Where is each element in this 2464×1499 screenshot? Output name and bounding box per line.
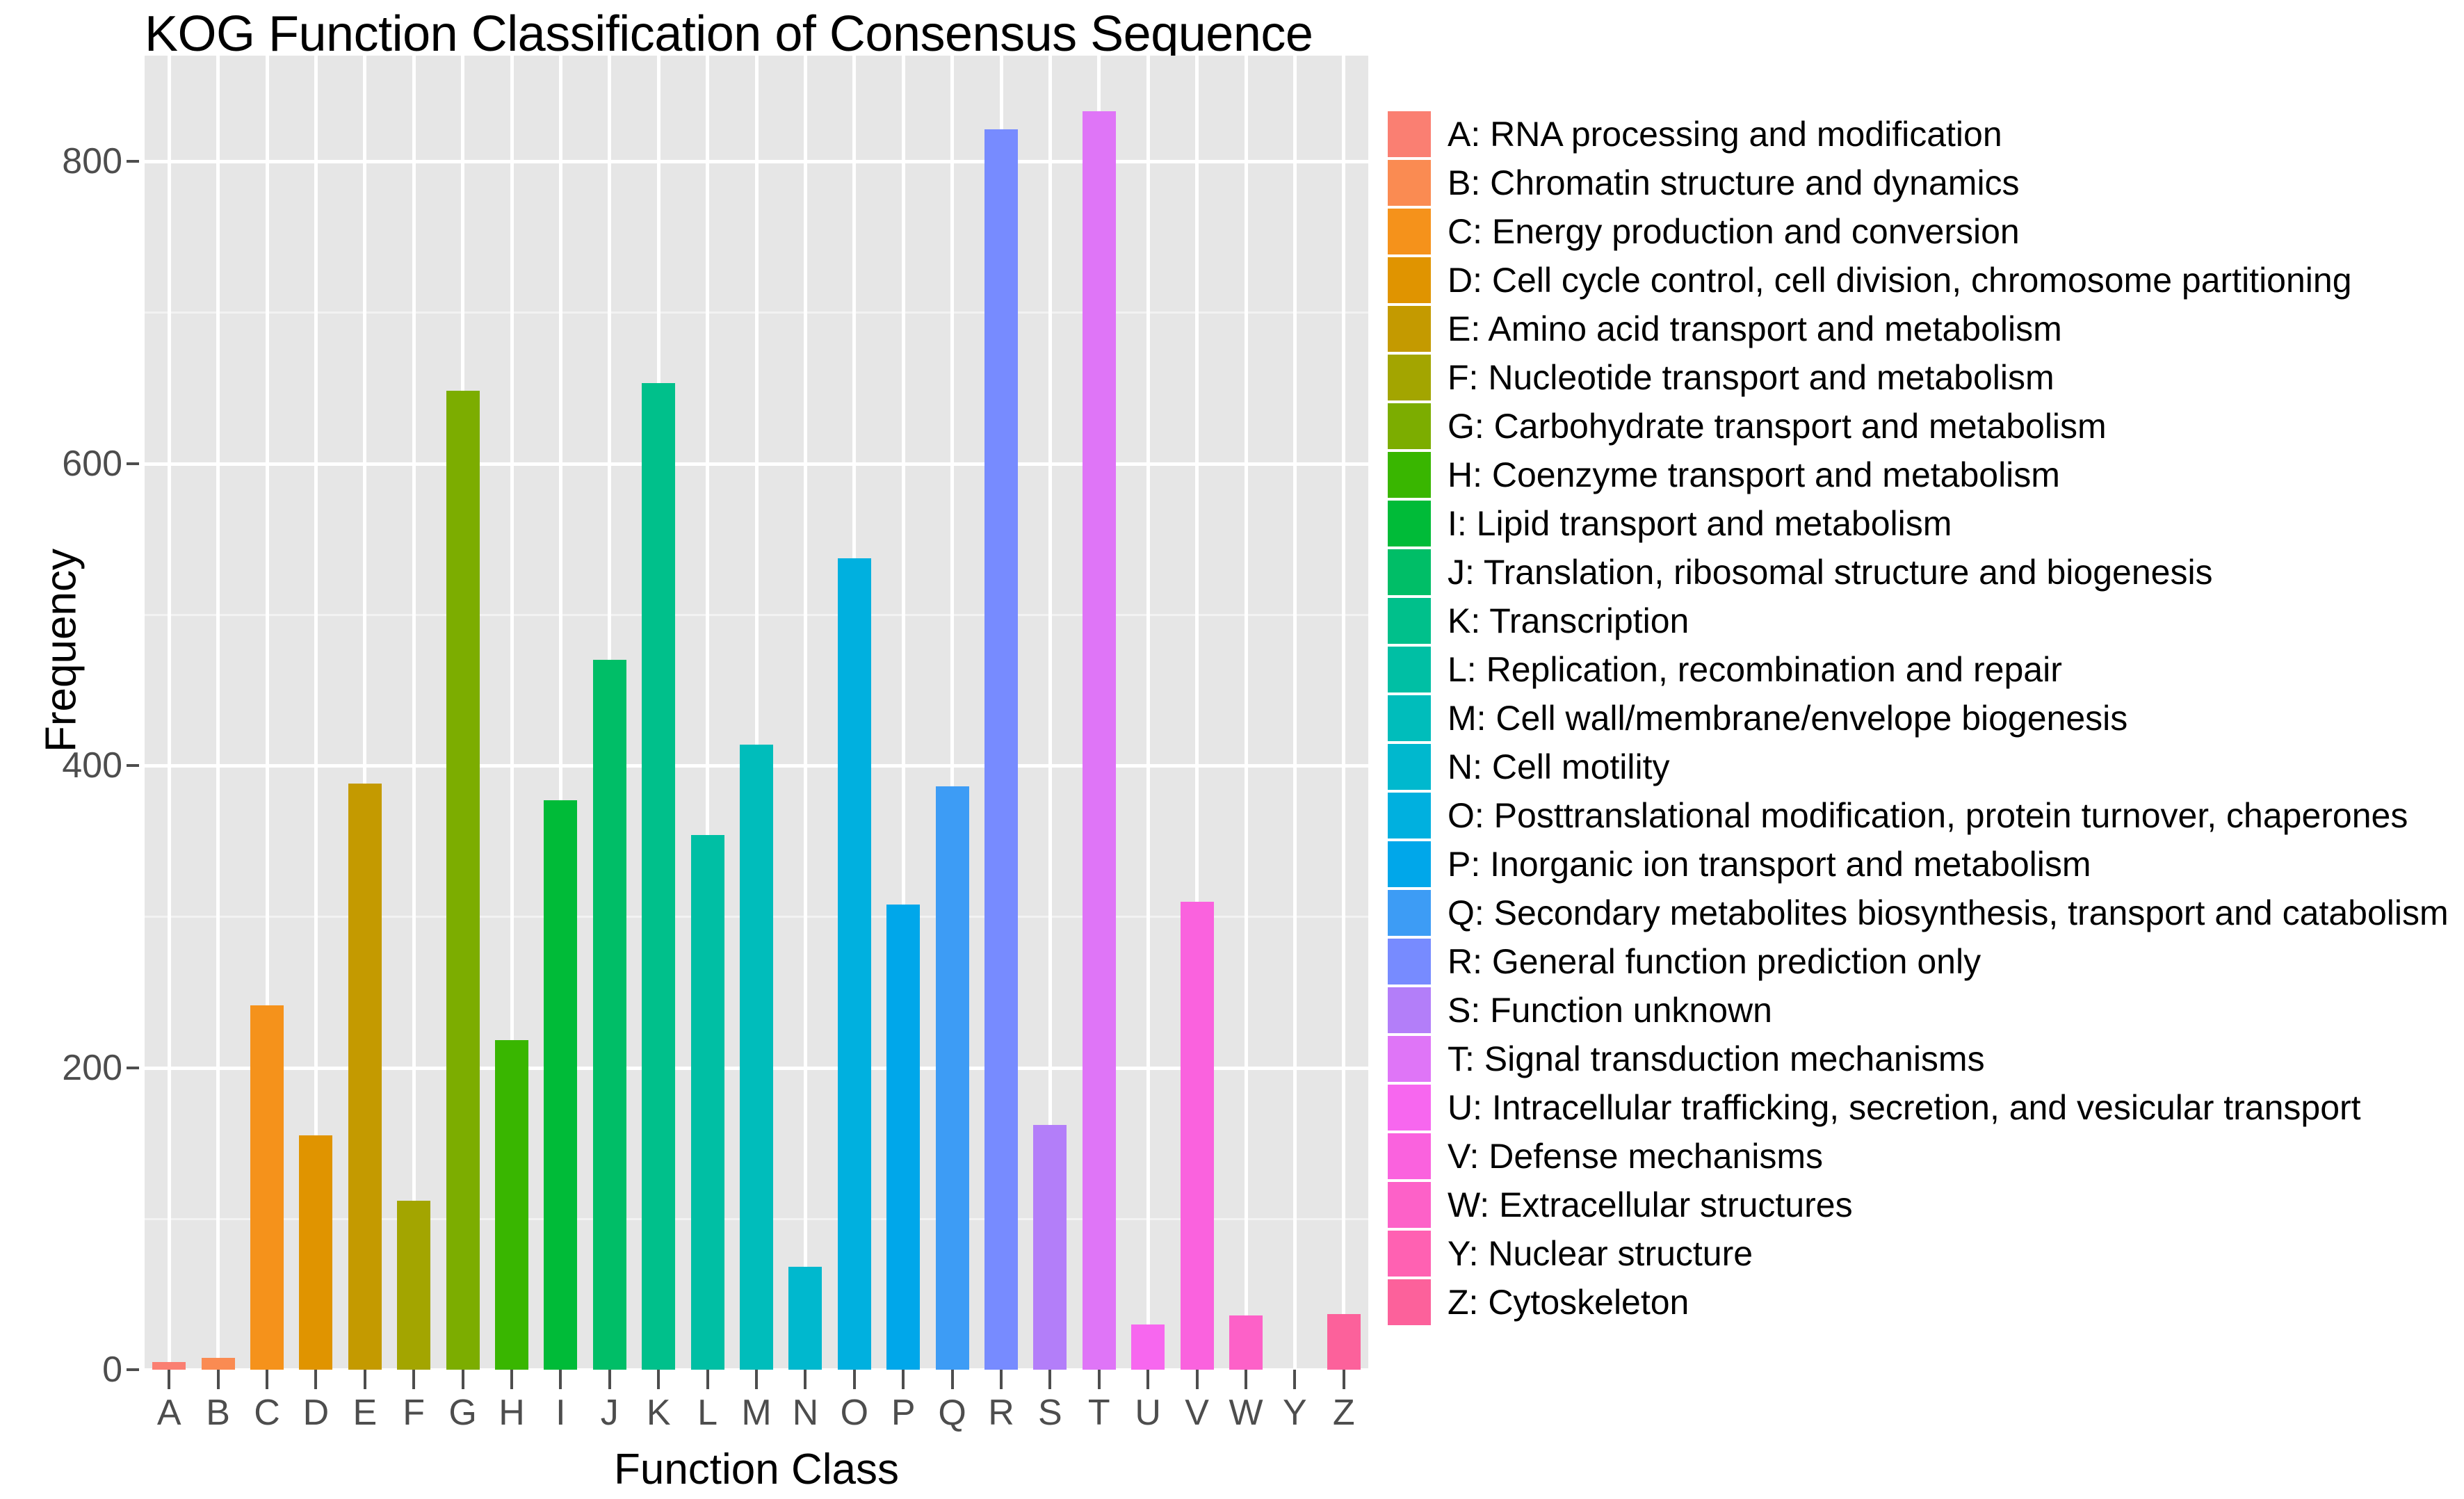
bar-T[interactable] (1083, 111, 1116, 1370)
bar-E[interactable] (348, 784, 382, 1370)
x-tick-mark-P (902, 1370, 905, 1389)
legend-item-S[interactable]: S: Function unknown (1388, 986, 2458, 1035)
x-tick-label-I: I (556, 1392, 565, 1434)
legend-item-N[interactable]: N: Cell motility (1388, 743, 2458, 791)
bar-M[interactable] (740, 745, 773, 1370)
y-tick-label-0: 0 (4, 1349, 122, 1391)
bar-S[interactable] (1033, 1125, 1067, 1370)
x-axis-title: Function Class (145, 1445, 1368, 1494)
x-tick-mark-E (364, 1370, 366, 1389)
y-tick-mark-0 (127, 1368, 139, 1371)
x-tick-label-E: E (352, 1392, 377, 1434)
legend-swatch-U (1388, 1085, 1431, 1131)
x-tick-label-B: B (206, 1392, 230, 1434)
bar-D[interactable] (299, 1135, 332, 1370)
x-tick-label-T: T (1088, 1392, 1110, 1434)
legend-item-J[interactable]: J: Translation, ribosomal structure and … (1388, 548, 2458, 597)
legend-label-E: E: Amino acid transport and metabolism (1448, 311, 2062, 346)
legend-label-T: T: Signal transduction mechanisms (1448, 1042, 1985, 1076)
legend-item-Z[interactable]: Z: Cytoskeleton (1388, 1278, 2458, 1327)
x-tick-mark-C (266, 1370, 268, 1389)
legend-swatch-C (1388, 209, 1431, 254)
legend-label-P: P: Inorganic ion transport and metabolis… (1448, 847, 2091, 882)
legend-swatch-O (1388, 793, 1431, 838)
legend-label-F: F: Nucleotide transport and metabolism (1448, 360, 2054, 395)
bar-F[interactable] (397, 1201, 430, 1370)
legend-item-F[interactable]: F: Nucleotide transport and metabolism (1388, 353, 2458, 402)
x-tick-mark-N (804, 1370, 807, 1389)
y-tick-label-400: 400 (4, 745, 122, 786)
bars-layer (145, 56, 1368, 1370)
x-tick-mark-T (1098, 1370, 1101, 1389)
x-tick-mark-B (217, 1370, 220, 1389)
legend-swatch-R (1388, 939, 1431, 985)
legend-item-V[interactable]: V: Defense mechanisms (1388, 1132, 2458, 1181)
legend-label-Y: Y: Nuclear structure (1448, 1236, 1753, 1271)
x-tick-label-F: F (403, 1392, 425, 1434)
legend-swatch-E (1388, 306, 1431, 352)
legend-item-G[interactable]: G: Carbohydrate transport and metabolism (1388, 402, 2458, 451)
legend-swatch-Q (1388, 890, 1431, 936)
bar-K[interactable] (642, 383, 675, 1370)
legend-item-T[interactable]: T: Signal transduction mechanisms (1388, 1035, 2458, 1083)
legend-label-H: H: Coenzyme transport and metabolism (1448, 457, 2060, 492)
x-tick-mark-U (1146, 1370, 1149, 1389)
bar-B[interactable] (202, 1358, 235, 1370)
page-title: KOG Function Classification of Consensus… (145, 6, 1313, 63)
legend-item-Q[interactable]: Q: Secondary metabolites biosynthesis, t… (1388, 889, 2458, 937)
x-tick-label-A: A (157, 1392, 181, 1434)
legend-label-D: D: Cell cycle control, cell division, ch… (1448, 263, 2352, 298)
x-axis-ticks (145, 1370, 1368, 1391)
legend-swatch-W (1388, 1182, 1431, 1228)
x-tick-label-Y: Y (1283, 1392, 1307, 1434)
legend-label-K: K: Transcription (1448, 603, 1689, 638)
x-tick-label-G: G (448, 1392, 476, 1434)
x-tick-label-R: R (988, 1392, 1014, 1434)
x-tick-label-W: W (1229, 1392, 1263, 1434)
legend-item-D[interactable]: D: Cell cycle control, cell division, ch… (1388, 256, 2458, 305)
x-tick-mark-W (1245, 1370, 1247, 1389)
x-tick-mark-L (706, 1370, 709, 1389)
bar-A[interactable] (152, 1362, 186, 1370)
x-tick-label-U: U (1135, 1392, 1161, 1434)
legend-item-Y[interactable]: Y: Nuclear structure (1388, 1229, 2458, 1278)
x-tick-mark-A (168, 1370, 170, 1389)
legend-item-H[interactable]: H: Coenzyme transport and metabolism (1388, 451, 2458, 499)
legend-swatch-V (1388, 1133, 1431, 1179)
legend-swatch-Z (1388, 1279, 1431, 1325)
legend-item-I[interactable]: I: Lipid transport and metabolism (1388, 499, 2458, 548)
x-tick-mark-M (755, 1370, 758, 1389)
legend-swatch-D (1388, 257, 1431, 303)
legend-swatch-M (1388, 695, 1431, 741)
legend-swatch-K (1388, 598, 1431, 644)
x-tick-mark-H (510, 1370, 513, 1389)
x-tick-label-D: D (303, 1392, 330, 1434)
x-tick-mark-O (853, 1370, 856, 1389)
bar-W[interactable] (1229, 1315, 1263, 1370)
bar-V[interactable] (1181, 902, 1214, 1370)
x-tick-label-Q: Q (938, 1392, 966, 1434)
legend-label-S: S: Function unknown (1448, 993, 1772, 1028)
bar-C[interactable] (250, 1005, 284, 1370)
kog-chart-figure: KOG Function Classification of Consensus… (0, 0, 2464, 1499)
legend-label-J: J: Translation, ribosomal structure and … (1448, 555, 2213, 590)
legend-swatch-F (1388, 355, 1431, 400)
y-tick-label-600: 600 (4, 443, 122, 485)
legend-item-O[interactable]: O: Posttranslational modification, prote… (1388, 791, 2458, 840)
y-tick-label-800: 800 (4, 140, 122, 182)
bar-P[interactable] (886, 905, 920, 1370)
legend-swatch-S (1388, 987, 1431, 1033)
x-tick-label-H: H (499, 1392, 525, 1434)
bar-U[interactable] (1131, 1324, 1165, 1370)
legend-label-M: M: Cell wall/membrane/envelope biogenesi… (1448, 701, 2127, 736)
bar-Q[interactable] (936, 786, 969, 1370)
legend-item-W[interactable]: W: Extracellular structures (1388, 1181, 2458, 1229)
legend-label-G: G: Carbohydrate transport and metabolism (1448, 409, 2107, 444)
y-tick-mark-200 (127, 1067, 139, 1069)
bar-R[interactable] (984, 129, 1018, 1370)
x-tick-mark-J (608, 1370, 611, 1389)
legend-item-K[interactable]: K: Transcription (1388, 597, 2458, 645)
legend-label-R: R: General function prediction only (1448, 944, 1981, 979)
x-tick-mark-Q (951, 1370, 954, 1389)
x-tick-mark-G (462, 1370, 464, 1389)
legend-label-V: V: Defense mechanisms (1448, 1139, 1823, 1174)
bar-N[interactable] (788, 1267, 822, 1370)
legend-label-C: C: Energy production and conversion (1448, 214, 2020, 249)
x-axis-tick-labels: ABCDEFGHIJKLMNOPQRSTUVWYZ (145, 1392, 1368, 1435)
x-tick-mark-Y (1293, 1370, 1296, 1389)
y-tick-mark-800 (127, 160, 139, 163)
legend-label-Z: Z: Cytoskeleton (1448, 1285, 1689, 1320)
y-tick-label-200: 200 (4, 1047, 122, 1089)
x-tick-mark-Z (1343, 1370, 1345, 1389)
legend-swatch-J (1388, 549, 1431, 595)
legend: A: RNA processing and modificationB: Chr… (1388, 110, 2458, 1327)
legend-item-R[interactable]: R: General function prediction only (1388, 937, 2458, 986)
y-axis-title: Frequency (37, 546, 86, 755)
x-tick-mark-I (559, 1370, 562, 1389)
legend-label-A: A: RNA processing and modification (1448, 117, 2002, 152)
legend-swatch-B (1388, 160, 1431, 206)
x-tick-label-V: V (1185, 1392, 1209, 1434)
legend-swatch-T (1388, 1036, 1431, 1082)
legend-swatch-N (1388, 744, 1431, 790)
legend-label-N: N: Cell motility (1448, 749, 1669, 784)
x-tick-label-M: M (741, 1392, 771, 1434)
x-tick-mark-S (1048, 1370, 1051, 1389)
legend-item-C[interactable]: C: Energy production and conversion (1388, 207, 2458, 256)
legend-swatch-Y (1388, 1231, 1431, 1277)
x-tick-mark-R (1000, 1370, 1003, 1389)
legend-item-B[interactable]: B: Chromatin structure and dynamics (1388, 159, 2458, 207)
x-tick-label-C: C (254, 1392, 280, 1434)
x-tick-label-N: N (793, 1392, 819, 1434)
legend-swatch-P (1388, 841, 1431, 887)
legend-swatch-H (1388, 452, 1431, 498)
bar-O[interactable] (838, 558, 871, 1370)
x-tick-mark-F (412, 1370, 415, 1389)
x-tick-mark-D (314, 1370, 317, 1389)
legend-label-I: I: Lipid transport and metabolism (1448, 506, 1952, 541)
legend-swatch-G (1388, 403, 1431, 449)
legend-label-B: B: Chromatin structure and dynamics (1448, 165, 2020, 200)
x-tick-label-K: K (647, 1392, 671, 1434)
x-tick-label-L: L (697, 1392, 718, 1434)
legend-item-P[interactable]: P: Inorganic ion transport and metabolis… (1388, 840, 2458, 889)
y-tick-mark-600 (127, 462, 139, 465)
legend-swatch-L (1388, 647, 1431, 692)
x-tick-label-J: J (601, 1392, 619, 1434)
x-tick-mark-K (657, 1370, 660, 1389)
legend-label-W: W: Extracellular structures (1448, 1188, 1853, 1222)
legend-item-L[interactable]: L: Replication, recombination and repair (1388, 645, 2458, 694)
x-tick-label-S: S (1038, 1392, 1062, 1434)
legend-label-L: L: Replication, recombination and repair (1448, 652, 2062, 687)
x-tick-label-P: P (891, 1392, 916, 1434)
bar-Z[interactable] (1327, 1314, 1361, 1370)
legend-item-U[interactable]: U: Intracellular trafficking, secretion,… (1388, 1083, 2458, 1132)
legend-item-M[interactable]: M: Cell wall/membrane/envelope biogenesi… (1388, 694, 2458, 743)
legend-item-A[interactable]: A: RNA processing and modification (1388, 110, 2458, 159)
bar-I[interactable] (544, 800, 577, 1370)
legend-label-O: O: Posttranslational modification, prote… (1448, 798, 2408, 833)
bar-H[interactable] (495, 1040, 528, 1370)
x-tick-label-O: O (841, 1392, 868, 1434)
bar-L[interactable] (691, 835, 724, 1370)
plot-panel (145, 56, 1368, 1370)
bar-G[interactable] (446, 391, 480, 1370)
legend-label-U: U: Intracellular trafficking, secretion,… (1448, 1090, 2361, 1125)
legend-swatch-A (1388, 111, 1431, 157)
legend-swatch-I (1388, 501, 1431, 546)
bar-J[interactable] (593, 660, 626, 1370)
legend-label-Q: Q: Secondary metabolites biosynthesis, t… (1448, 896, 2449, 930)
x-tick-mark-V (1196, 1370, 1199, 1389)
x-tick-label-Z: Z (1333, 1392, 1355, 1434)
legend-item-E[interactable]: E: Amino acid transport and metabolism (1388, 305, 2458, 353)
y-tick-mark-400 (127, 764, 139, 767)
